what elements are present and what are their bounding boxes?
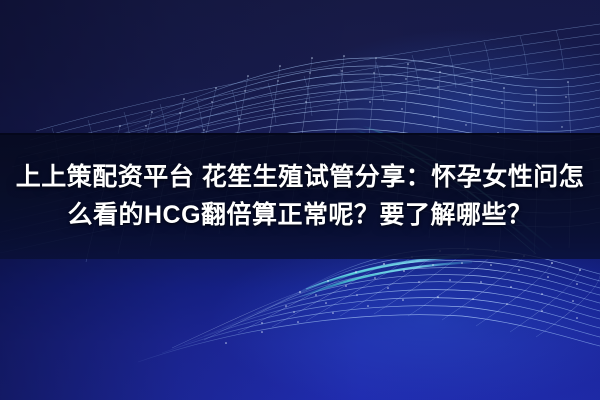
headline-scrim-top-edge [0,133,600,135]
page-title: 上上策配资平台 花笙生殖试管分享：怀孕女性问怎么看的HCG翻倍算正常呢？要了解哪… [0,158,600,234]
banner-image: 上上策配资平台 花笙生殖试管分享：怀孕女性问怎么看的HCG翻倍算正常呢？要了解哪… [0,0,600,400]
